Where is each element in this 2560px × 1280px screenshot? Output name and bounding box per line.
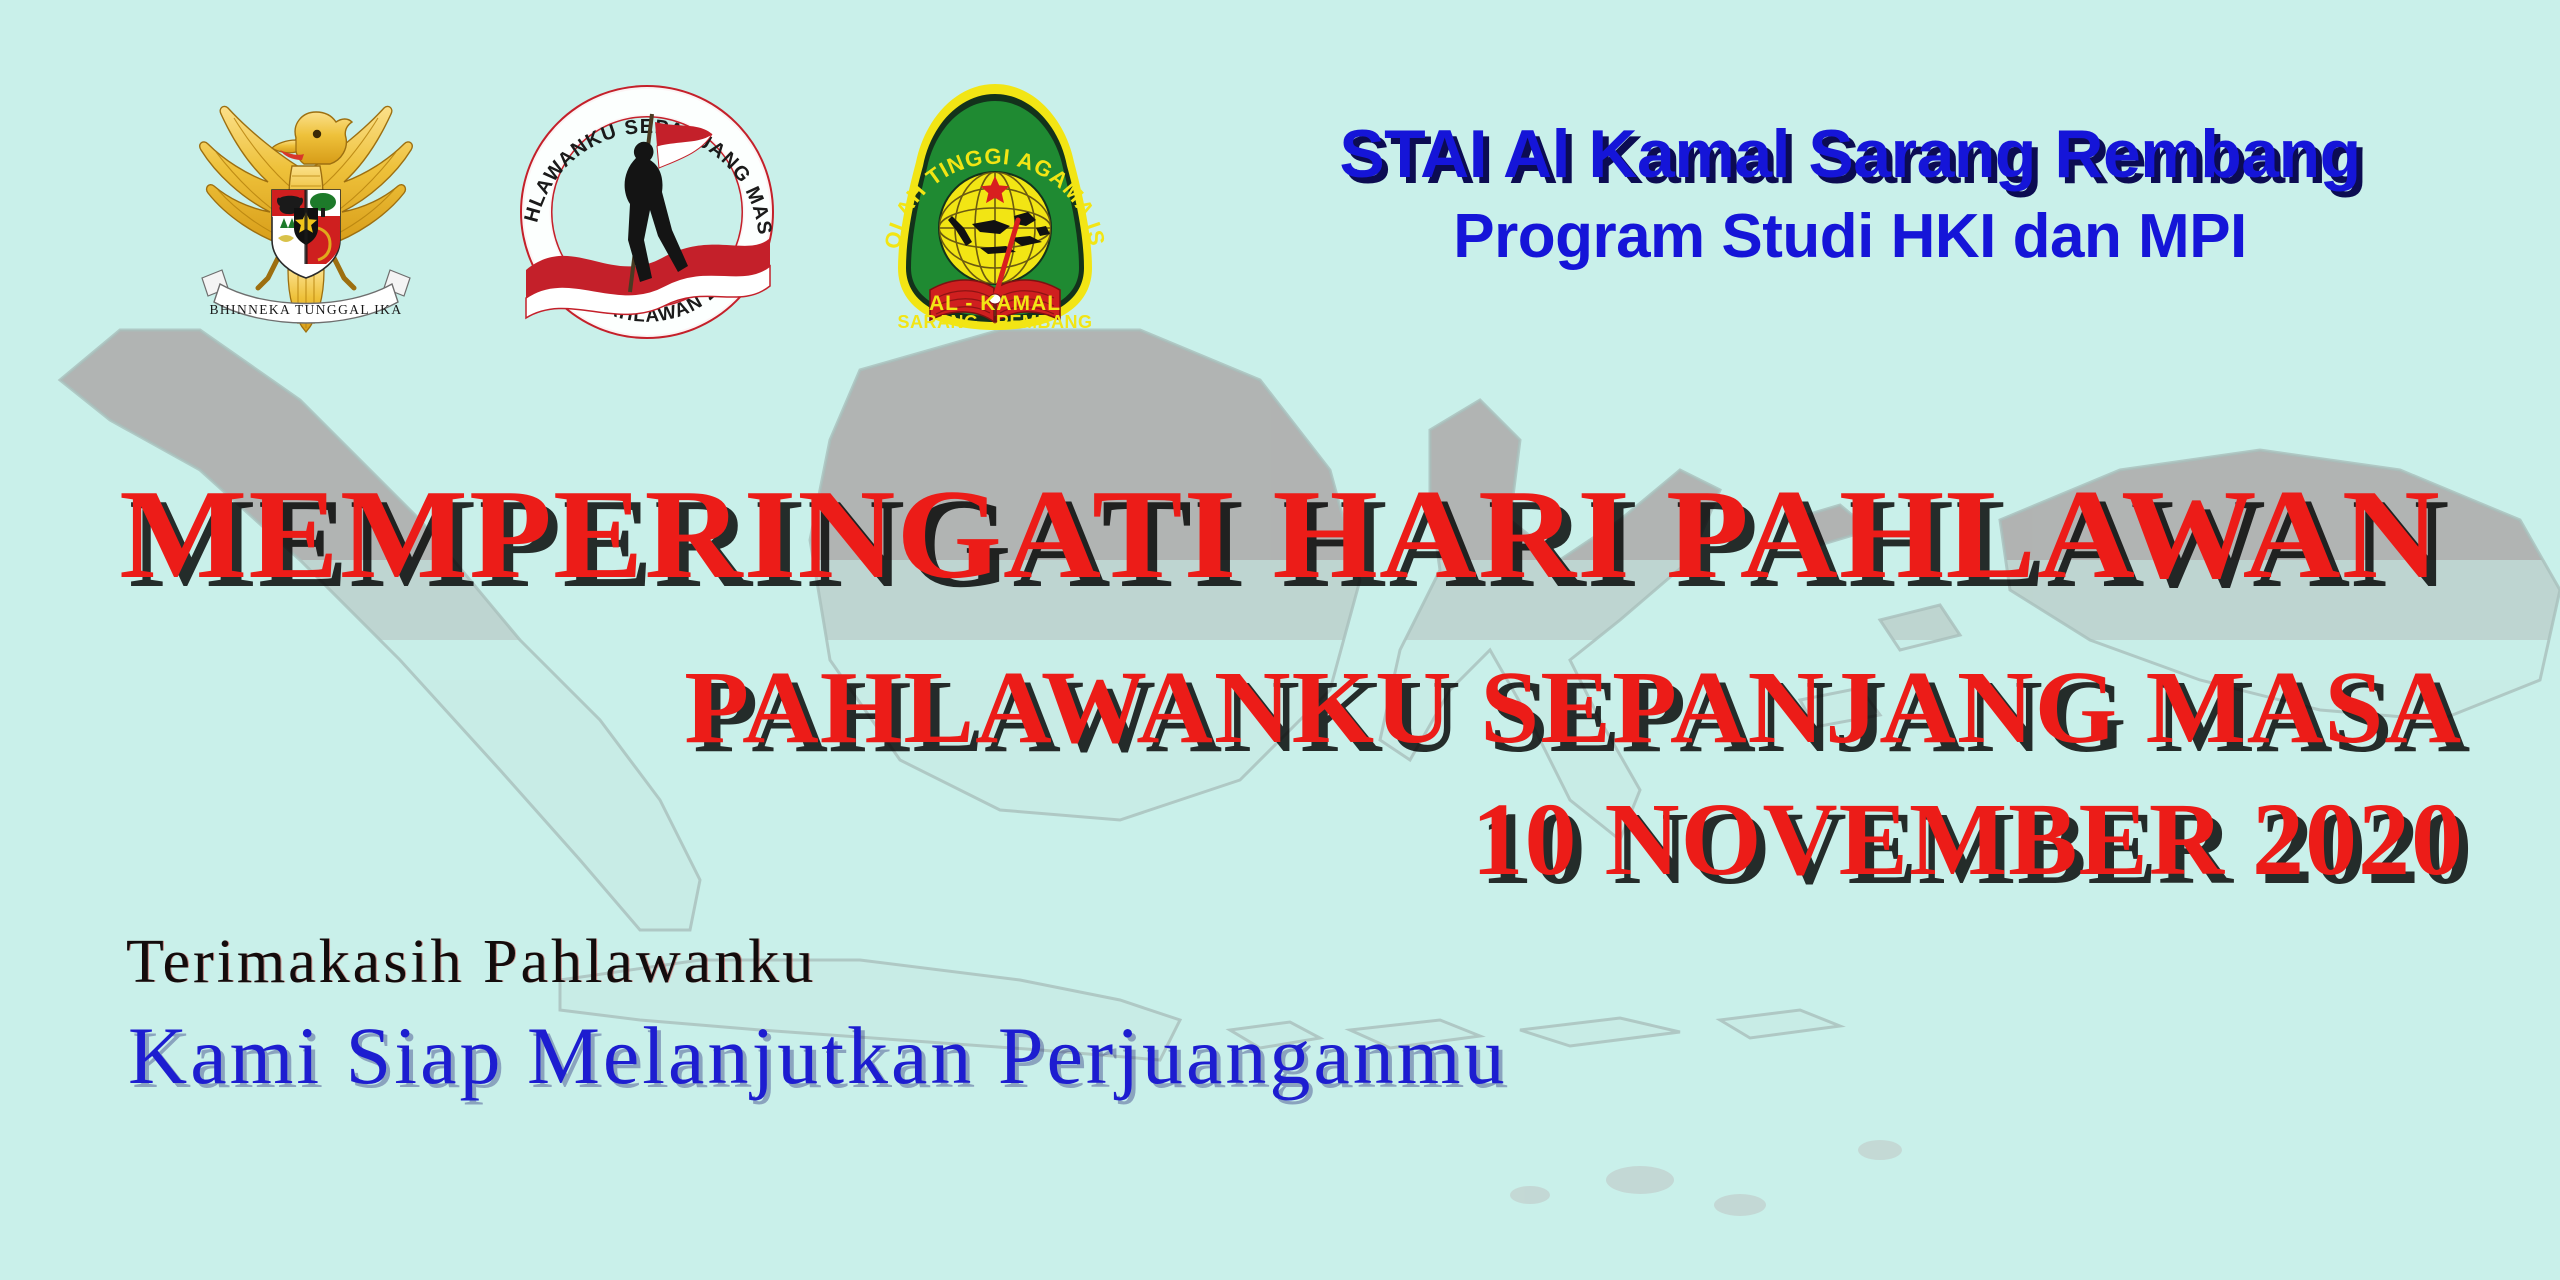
garuda-pancasila-emblem: BHINNEKA TUNGGAL IKA <box>176 78 436 340</box>
header-text-block: STAI Al Kamal Sarang Rembang Program Stu… <box>1150 120 2550 269</box>
stai-al-kamal-logo: SEKOLAH TINGGI AGAMA ISLAM <box>860 78 1130 340</box>
hari-pahlawan-2020-logo: PAHLAWANKU SEPANJANG MASA HARI PAHLAWAN … <box>512 80 782 340</box>
pancasila-shield <box>272 190 340 278</box>
headline-line-1: MEMPERINGATI HARI PAHLAWAN <box>0 470 2560 598</box>
tagline-line-1: Terimakasih Pahlawanku <box>126 930 1826 995</box>
hari-pahlawan-banner: BHINNEKA TUNGGAL IKA PAHLAWANKU SEPANJAN… <box>0 0 2560 1280</box>
stai-line-2: SARANG - REMBANG <box>898 312 1093 332</box>
organization-subtitle: Program Studi HKI dan MPI <box>1150 205 2550 268</box>
headline-line-2: PAHLAWANKU SEPANJANG MASA <box>0 656 2560 760</box>
tagline-block: Terimakasih Pahlawanku Kami Siap Melanju… <box>126 930 1826 1099</box>
bhinneka-ribbon-text: BHINNEKA TUNGGAL IKA <box>210 302 403 317</box>
tagline-line-2: Kami Siap Melanjutkan Perjuanganmu <box>128 1013 1826 1099</box>
headline-block: MEMPERINGATI HARI PAHLAWAN PAHLAWANKU SE… <box>0 470 2560 892</box>
headline-line-3: 10 NOVEMBER 2020 <box>0 788 2560 892</box>
header: BHINNEKA TUNGGAL IKA PAHLAWANKU SEPANJAN… <box>0 0 2560 360</box>
organization-title: STAI Al Kamal Sarang Rembang <box>1150 120 2550 189</box>
